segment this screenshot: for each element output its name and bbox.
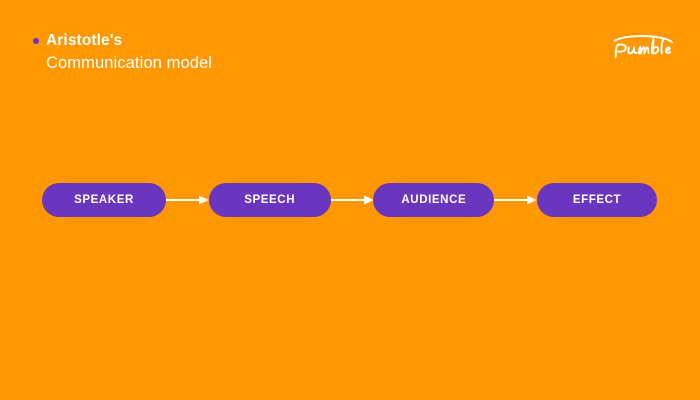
flow-node-audience[interactable]: AUDIENCE xyxy=(373,183,494,217)
communication-model-flow: SPEAKER SPEECH AUDIENCE xyxy=(42,183,657,217)
title-row: Aristotle's xyxy=(33,30,453,50)
flow-arrow-audience-to-effect xyxy=(494,194,537,206)
bullet-icon xyxy=(33,38,39,44)
flow-arrow-speech-to-audience xyxy=(331,194,374,206)
page-title: Aristotle's Communication model xyxy=(33,30,453,74)
flow-node-speaker-label: SPEAKER xyxy=(74,183,134,217)
flow-node-speaker[interactable]: SPEAKER xyxy=(42,183,166,217)
flow-arrow-speaker-to-speech xyxy=(166,194,209,206)
flow-node-speech[interactable]: SPEECH xyxy=(209,183,331,217)
flow-node-effect-label: EFFECT xyxy=(573,183,621,217)
slide-canvas: Aristotle's Communication model xyxy=(0,0,700,400)
pumble-logo xyxy=(606,33,678,61)
flow-node-effect[interactable]: EFFECT xyxy=(537,183,657,217)
flow-node-audience-label: AUDIENCE xyxy=(401,183,466,217)
flow-node-speech-label: SPEECH xyxy=(244,183,295,217)
title-main-text: Aristotle's xyxy=(46,31,122,50)
title-subtitle-text: Communication model xyxy=(46,53,453,74)
